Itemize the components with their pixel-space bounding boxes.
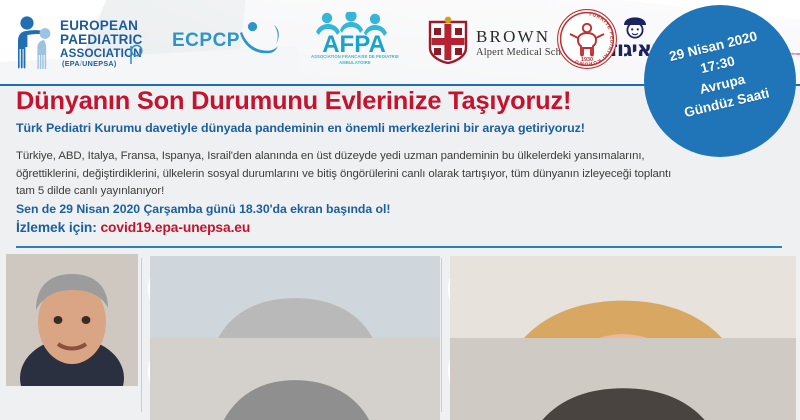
event-url-link[interactable]: covid19.epa-unepsa.eu (100, 220, 250, 235)
speaker-avatar (150, 258, 212, 320)
event-promo-banner: EUROPEAN PAEDIATRIC ASSOCIATION (EPA/UNE… (0, 0, 800, 420)
child-with-hat-icon (622, 17, 648, 39)
brown-alpert-medical-school-logo: BROWN Alpert Medical School (428, 16, 576, 68)
speaker-portrait-3 (450, 258, 512, 320)
page-subtitle: Türk Pediatri Kurumu davetiyle dünyada p… (16, 121, 646, 135)
three-people-icon: AFPA (306, 12, 402, 54)
speaker-avatar (450, 258, 512, 320)
moderator-avatar (39, 256, 105, 322)
parent-child-figures-icon (14, 15, 64, 69)
call-to-action-block: Sen de 29 Nisan 2020 Çarşamba günü 18.30… (16, 202, 516, 235)
speaker-card: Esra Şevketoğlu Sağlık Bilimleri Ünivers… (450, 256, 796, 320)
epa-unepsa-subtext: (EPA/UNEPSA) (62, 59, 117, 68)
headline-block: Dünyanın Son Durumunu Evlerinize Taşıyor… (16, 88, 646, 135)
speaker-portrait-4 (450, 340, 512, 402)
speaker-card: Eli Somekh Israil Pediatri Derneği Eski … (150, 338, 440, 402)
cta-watch-label: İzlemek için: (16, 220, 97, 235)
brown-wordmark: BROWN (476, 27, 550, 47)
date-time-badge: 29 Nisan 2020 17:30 Avrupa Gündüz Saati (644, 5, 796, 157)
moderator-portrait (39, 256, 105, 322)
speakers-section: Moderatör: Mehmet Vural Türk Pediatri Ku… (0, 250, 800, 420)
epa-p-monogram-icon (127, 43, 144, 65)
moderator-card: Moderatör: Mehmet Vural Türk Pediatri Ku… (6, 254, 138, 382)
partner-logo-row: EUROPEAN PAEDIATRIC ASSOCIATION (EPA/UNE… (0, 0, 640, 84)
cta-reminder-text: Sen de 29 Nisan 2020 Çarşamba günü 18.30… (16, 202, 516, 216)
speaker-portrait-2 (150, 340, 212, 402)
section-divider-rule (16, 246, 782, 248)
speaker-card: Massimo Pettoello-Mantovani Avrupa Pedia… (150, 256, 440, 320)
speaker-avatar (150, 340, 212, 402)
european-paediatric-association-logo: EUROPEAN PAEDIATRIC ASSOCIATION (EPA/UNE… (14, 13, 142, 71)
description-paragraph: Türkiye, ABD, Italya, Fransa, Ispanya, I… (16, 148, 676, 201)
column-divider-right (441, 258, 442, 412)
afpa-logo: AFPA ASSOCIATION FRANCAISE DE PEDIATRIE … (306, 12, 402, 72)
page-title: Dünyanın Son Durumunu Evlerinize Taşıyor… (16, 88, 646, 116)
date-badge-text: 29 Nisan 2020 17:30 Avrupa Gündüz Saati (644, 19, 796, 130)
cta-watch-line: İzlemek için: covid19.epa-unepsa.eu (16, 220, 516, 235)
turkish-pediatric-association-stamp: TÜRKİYE PEDİATRİ KURUMU 1930 (556, 8, 618, 70)
speaker-card: Selim Suner Afet Tıbbı ve Acil Durumlara… (450, 338, 796, 402)
brown-shield-crest-icon (428, 16, 468, 64)
speaker-portrait-1 (150, 258, 212, 320)
svg-text:AFPA: AFPA (322, 31, 386, 54)
epa-sub-close: UNEPSA) (82, 59, 116, 68)
ecpcp-logo: ECPCP (172, 22, 278, 62)
column-divider-left (141, 258, 142, 412)
afpa-caption: ASSOCIATION FRANCAISE DE PEDIATRIE AMBUL… (308, 54, 402, 67)
ecpcp-wordmark: ECPCP (172, 30, 240, 52)
epa-word-line-1: EUROPEAN (60, 19, 143, 33)
stamp-year: 1930 (581, 57, 593, 63)
epa-sub-open: (EPA (62, 59, 80, 68)
speaker-avatar (450, 340, 512, 402)
swoosh-person-icon (238, 21, 280, 61)
